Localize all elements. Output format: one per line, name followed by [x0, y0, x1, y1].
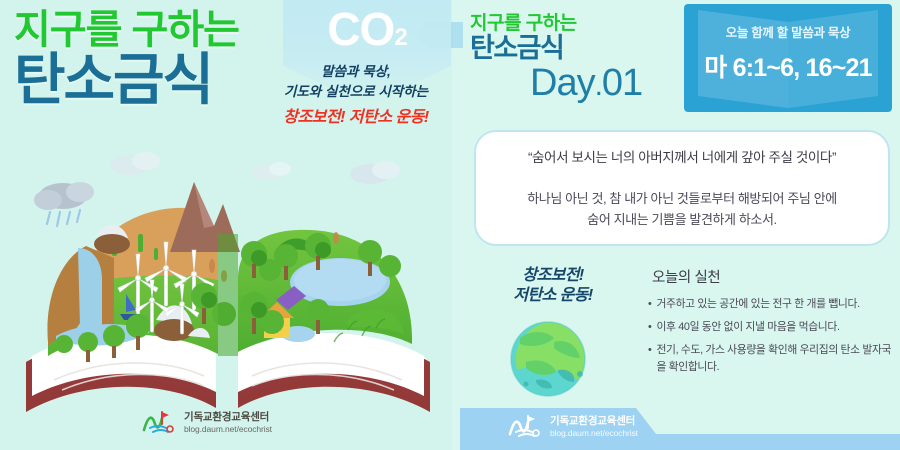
co2-subscript: 2	[394, 24, 406, 51]
slogan-line1: 창조보전!	[478, 266, 628, 286]
scripture-reference: 마 6:1~6, 16~21	[684, 48, 892, 84]
left-headline-line1: 지구를 구하는	[14, 10, 304, 51]
practice-list: • 거주하고 있는 공간에 있는 전구 한 개를 뺍니다. • 이후 40일 동…	[648, 296, 896, 382]
bullet-icon: •	[648, 296, 651, 312]
left-footer-logo: 기독교환경교육센터 blog.daum.net/ecochrist	[140, 408, 272, 434]
left-footer-logo-url: blog.daum.net/ecochrist	[184, 424, 272, 434]
rain-cloud-icon	[34, 182, 94, 226]
day-dot: .	[595, 69, 602, 102]
co2-subtitle-line1: 말씀과 묵상,	[258, 62, 454, 82]
day-prefix: Day	[530, 62, 595, 104]
bullet-icon: •	[648, 319, 651, 335]
list-item: • 전기, 수도, 가스 사용량을 확인해 우리집의 탄소 발자국을 확인합니다…	[648, 342, 896, 374]
left-footer-logo-name: 기독교환경교육센터	[184, 409, 272, 424]
practice-item-text: 전기, 수도, 가스 사용량을 확인해 우리집의 탄소 발자국을 확인합니다.	[656, 342, 896, 374]
list-item: • 이후 40일 동안 없이 지낼 마음을 먹습니다.	[648, 319, 896, 335]
ecochrist-logo-icon	[506, 412, 544, 438]
earth-globe-icon	[496, 318, 600, 400]
prayer-text: 하나님 아닌 것, 참 내가 아닌 것들로부터 해방되어 주님 안에 숨어 지내…	[486, 188, 878, 231]
right-footer-logo-name: 기독교환경교육센터	[550, 413, 638, 428]
cloud-icon	[350, 161, 400, 184]
practice-item-text: 이후 40일 동안 없이 지낼 마음을 먹습니다.	[656, 319, 839, 335]
prayer-line2: 숨어 지내는 기쁨을 발견하게 하소서.	[587, 212, 776, 227]
right-headline-line1: 지구를 구하는	[470, 14, 577, 34]
bullet-icon: •	[648, 342, 651, 374]
right-footer-logo-url: blog.daum.net/ecochrist	[550, 428, 638, 438]
practice-title: 오늘의 실천	[652, 266, 720, 287]
cloud-icon	[252, 162, 291, 180]
quote-text: “숨어서 보시는 너의 아버지께서 너에게 갚아 주실 것이다”	[474, 146, 890, 166]
co2-subtitle-line2: 기도와 실천으로 시작하는	[258, 82, 454, 102]
right-headline: 지구를 구하는 탄소금식	[470, 14, 577, 62]
co2-slogan: 창조보전! 저탄소 운동!	[258, 103, 454, 127]
right-headline-line2: 탄소금식	[470, 34, 577, 62]
ecochrist-logo-icon	[140, 408, 178, 434]
day-number: 01	[602, 62, 642, 104]
co2-label: CO2	[283, 6, 451, 52]
prayer-line1: 하나님 아닌 것, 참 내가 아닌 것들로부터 해방되어 주님 안에	[527, 191, 837, 206]
day-counter: Day.01	[530, 64, 642, 102]
list-item: • 거주하고 있는 공간에 있는 전구 한 개를 뺍니다.	[648, 296, 896, 312]
cloud-icon	[110, 152, 160, 175]
open-book-earth-illustration	[18, 130, 438, 415]
co2-label-text: CO	[327, 3, 394, 55]
right-footer-logo: 기독교환경교육센터 blog.daum.net/ecochrist	[506, 412, 638, 438]
co2-subtitle: 말씀과 묵상, 기도와 실천으로 시작하는	[258, 62, 454, 101]
slogan-line2: 저탄소 운동!	[478, 286, 628, 306]
scripture-label: 오늘 함께 할 말씀과 묵상	[684, 22, 892, 41]
practice-item-text: 거주하고 있는 공간에 있는 전구 한 개를 뺍니다.	[656, 296, 859, 312]
campaign-slogan: 창조보전! 저탄소 운동!	[478, 266, 628, 306]
poster-canvas: 지구를 구하는 탄소금식 CO2 말씀과 묵상, 기도와 실천으로 시작하는 창…	[0, 0, 900, 450]
